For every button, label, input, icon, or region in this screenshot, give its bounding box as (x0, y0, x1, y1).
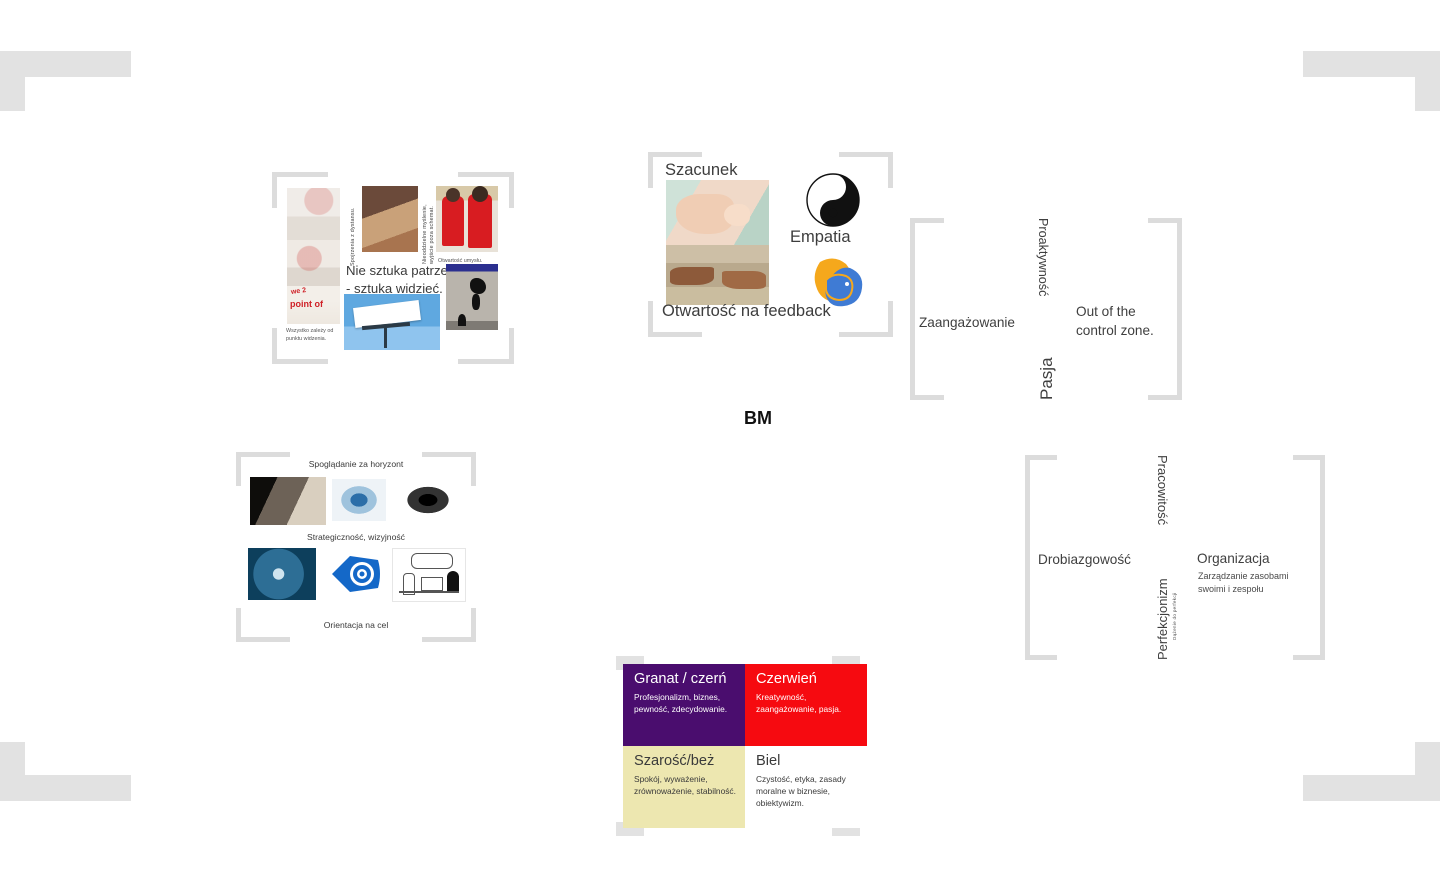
panel-bracket (1293, 655, 1325, 660)
value-label-respect: Szacunek (665, 161, 737, 180)
panel-bracket (236, 452, 241, 486)
panel-bracket (236, 637, 290, 642)
office-cartoon-photo (392, 548, 466, 602)
passion-vertical-label: Pasja (1037, 336, 1057, 400)
out-of-control-zone-line-1: Out of the (1076, 302, 1176, 321)
vlabel-distance: Spojrzenia z dystansu. (350, 188, 357, 266)
color-block-title: Szarość/beż (634, 754, 736, 769)
panel-bracket (839, 152, 893, 157)
engagement-panel: Zaangażowanie Proaktywność Pasja Out of … (910, 218, 1182, 400)
panel-bracket (839, 332, 893, 337)
bracket-arm (1415, 742, 1440, 801)
panel-bracket (458, 359, 514, 364)
panel-bracket (1025, 455, 1030, 660)
organization-title: Organizacja (1197, 549, 1270, 568)
panel-bracket (648, 332, 702, 337)
bracket-arm (0, 51, 25, 111)
brand-initials-label: BM (744, 408, 772, 429)
vision-title-horizon: Spoglądanie za horyzont (236, 459, 476, 469)
panel-bracket (648, 152, 653, 188)
panel-bracket (1177, 218, 1182, 400)
value-label-empathy: Empatia (790, 228, 851, 247)
wez-text: we 2 (291, 287, 307, 296)
collage-vision-panel: Spoglądanie za horyzont Strategiczność, … (236, 452, 476, 642)
organization-subtitle: Zarządzanie zasobami swoimi i zespołu (1198, 570, 1338, 596)
bracket-arm (0, 742, 25, 801)
color-block-title: Czerwień (756, 672, 858, 687)
point-of-view-sign-photo: point of we 2 (287, 286, 340, 324)
engagement-label: Zaangażowanie (919, 313, 1015, 332)
panel-bracket (888, 301, 893, 337)
panel-bracket (648, 301, 653, 337)
blue-eye-logo (328, 550, 382, 598)
vision-title-goal: Orientacja na cel (236, 620, 476, 630)
panel-bracket (910, 218, 944, 223)
blue-radar-target-photo (248, 548, 316, 600)
banksy-wall-flower-photo (446, 264, 498, 330)
collage-perspective-panel: point of we 2 Spojrzenia z dystansu. Nie… (272, 172, 514, 364)
value-label-feedback: Otwartość na feedback (662, 302, 831, 321)
panel-bracket (648, 152, 702, 157)
color-block-desc: Czystość, etyka, zasady moralne w biznes… (756, 773, 858, 810)
color-palette-panel: Granat / czerń Profesjonalizm, biznes, p… (616, 656, 860, 836)
vision-title-strategy: Strategiczność, wizyjność (236, 532, 476, 542)
panel-bracket (910, 395, 944, 400)
panel-bracket (1148, 395, 1182, 400)
perfectionism-vertical-label: Perfekcjonizm (1155, 545, 1170, 660)
out-of-control-zone-label: Out of the control zone. (1076, 302, 1176, 340)
color-block-desc: Spokój, wyważenie, zrównoważenie, stabil… (634, 773, 736, 798)
panel-bracket (422, 637, 476, 642)
point-of-text: point of (290, 300, 323, 309)
bracket-arm (1415, 51, 1440, 111)
room-red-stamp-photo (287, 188, 340, 240)
hand-chess-pieces-photo (250, 477, 326, 525)
panel-bracket (236, 452, 290, 457)
panel-bracket (888, 152, 893, 188)
panel-bracket (1320, 455, 1325, 660)
billboard-sky-photo (344, 294, 440, 350)
blue-eye-icon (328, 550, 382, 598)
color-block-title: Biel (756, 754, 858, 769)
panel-bracket (509, 172, 514, 208)
caption-everything-depends: Wszystko zależy od punktu widzenia. (286, 328, 344, 344)
panel-bracket (272, 172, 277, 208)
proactivity-vertical-label: Proaktywność (1036, 218, 1050, 328)
panel-bracket (471, 452, 476, 486)
meticulousness-label: Drobiazgowość (1038, 550, 1131, 569)
yin-yang-icon (805, 172, 861, 228)
room-red-arrow-photo (287, 240, 340, 286)
eye-landscape-reflection-photo (332, 479, 386, 521)
color-block-title: Granat / czerń (634, 672, 736, 687)
organization-subtitle-line-1: Zarządzanie zasobami (1198, 570, 1338, 583)
halftone-eye-photo (392, 477, 464, 523)
organization-subtitle-line-2: swoimi i zespołu (1198, 583, 1338, 596)
panel-bracket (272, 172, 328, 177)
color-block-grey-beige: Szarość/beż Spokój, wyważenie, zrównoważ… (623, 746, 745, 828)
panel-bracket (458, 172, 514, 177)
vlabel-out-of-box: Nieoddzielne myślenie, wyjście poza sche… (422, 184, 436, 264)
panel-bracket (910, 218, 915, 400)
organization-panel: Drobiazgowość Pracowitość Perfekcjonizm … (1025, 455, 1325, 660)
creation-of-adam-hands-photo (666, 245, 769, 305)
striving-for-perfection-tiny-label: Dążenie do perfekcji (1172, 580, 1177, 640)
color-block-navy-black: Granat / czerń Profesjonalizm, biznes, p… (623, 664, 745, 746)
color-block-desc: Kreatywność, zaangażowanie, pasja. (756, 691, 858, 716)
aerial-city-street-photo (362, 186, 418, 252)
color-block-desc: Profesjonalizm, biznes, pewność, zdecydo… (634, 691, 736, 716)
panel-bracket (509, 328, 514, 364)
panel-bracket (1025, 655, 1057, 660)
panel-bracket (272, 359, 328, 364)
panel-bracket (272, 328, 277, 364)
color-block-red: Czerwień Kreatywność, zaangażowanie, pas… (745, 664, 867, 746)
values-panel: Szacunek Empatia Otwartość na feedback (648, 152, 893, 337)
two-women-red-shirts-photo (436, 186, 498, 252)
holding-baby-hand-photo (666, 180, 769, 245)
panel-bracket (422, 452, 476, 457)
out-of-control-zone-line-2: control zone. (1076, 321, 1176, 340)
color-block-white: Biel Czystość, etyka, zasady moralne w b… (745, 746, 867, 828)
